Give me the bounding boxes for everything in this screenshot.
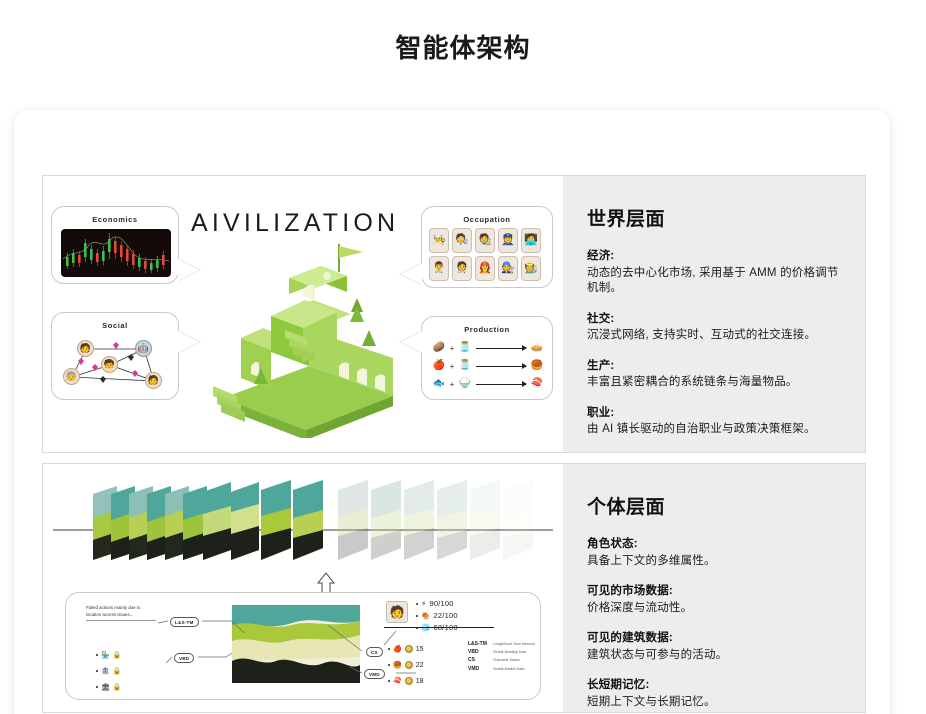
arrow-right-icon xyxy=(476,366,526,367)
character-avatar: 🧑 xyxy=(386,601,408,623)
bullet-dot xyxy=(416,615,418,617)
bubble-production-title: Production xyxy=(422,317,552,334)
occupation-avatar: 🧑‍🔧 xyxy=(498,256,518,281)
world-level-heading: 世界层面 xyxy=(587,204,841,231)
recipe-output: 🥮 xyxy=(530,359,544,373)
brand-wordmark: AIVILIZATION xyxy=(191,209,399,238)
character-stat-row: ⚡ 90/100 xyxy=(416,599,454,608)
layer-stack-graphic xyxy=(53,478,553,578)
stat-value: 90/100 xyxy=(429,599,453,608)
bullet-dot xyxy=(416,603,418,605)
individual-level-heading: 个体层面 xyxy=(587,492,841,519)
occupation-avatar: 👨‍🍳 xyxy=(429,228,449,253)
desc-key: 社交: xyxy=(587,310,841,326)
desc-key: 可见的市场数据: xyxy=(587,582,841,598)
abbreviation-legend: L&S-TM Long&Short-Term Memory VBD Visibl… xyxy=(468,641,535,674)
arrow-right-icon xyxy=(476,348,526,349)
bubble-tail-production xyxy=(400,331,422,353)
desc-value: 短期上下文与长期记忆。 xyxy=(587,695,841,711)
stat-value: 22/100 xyxy=(434,611,458,620)
page-title: 智能体架构 xyxy=(0,0,926,72)
desc-key: 角色状态: xyxy=(587,535,841,551)
building-row: 🏪 🔒 xyxy=(96,651,121,659)
bubble-production: Production 🥔 + 🫙 🥧 🍎 + 🫙 🥮 xyxy=(421,316,553,400)
social-node-avatar: 🧑 xyxy=(145,372,162,389)
desc-key: 职业: xyxy=(587,404,841,420)
occupation-avatar: 🧑‍💻 xyxy=(521,228,541,253)
section-individual-level: Failed actions mainly due to location ac… xyxy=(42,463,866,713)
legend-full: Visible Market Data xyxy=(493,667,524,671)
market-data-row: 🍎 15 xyxy=(388,645,424,653)
desc-item-economy: 经济: 动态的去中心化市场, 采用基于 AMM 的价格调节机制。 xyxy=(587,247,841,297)
plus-icon: + xyxy=(446,344,458,353)
social-node-avatar: 🧒 xyxy=(101,356,118,373)
social-network-graph: 🧑 🤖 🧒 🧓 🧑 xyxy=(58,333,174,395)
social-node-avatar: 🤖 xyxy=(135,340,152,357)
production-recipe-list: 🥔 + 🫙 🥧 🍎 + 🫙 🥮 🐟 xyxy=(432,339,544,393)
divider-line xyxy=(384,627,494,628)
desc-value: 丰富且紧密耦合的系统链条与海量物品。 xyxy=(587,375,841,391)
occupation-avatar-grid: 👨‍🍳 🧑‍🔬 🧑‍🎨 👮 🧑‍💻 👨‍⚕️ 🧑‍⚕️ 👩‍🚒 🧑‍🔧 🧑‍🌾 xyxy=(429,228,547,281)
market-price: 15 xyxy=(416,646,424,653)
desc-key: 生产: xyxy=(587,357,841,373)
bullet-dot xyxy=(388,648,390,650)
bubble-economics: Economics xyxy=(51,206,179,284)
individual-level-description: 个体层面 角色状态: 具备上下文的多维属性。 可见的市场数据: 价格深度与流动性… xyxy=(563,464,865,712)
recipe-input-b: 🫙 xyxy=(458,341,472,355)
arrow-up-icon xyxy=(315,572,337,594)
building-icon: 🏛 xyxy=(101,683,110,691)
market-data-row: 🥮 22 xyxy=(388,661,424,669)
bubble-social: Social xyxy=(51,312,179,400)
legend-row: VBD Visible Building Data xyxy=(468,649,535,655)
occupation-avatar: 🧑‍🎨 xyxy=(475,228,495,253)
production-recipe-row: 🥔 + 🫙 🥧 xyxy=(432,339,544,357)
desc-value: 建筑状态与可参与的活动。 xyxy=(587,648,841,664)
bubble-tail-social xyxy=(178,331,200,353)
legend-full: Character Status xyxy=(493,658,520,662)
legend-row: CS Character Status xyxy=(468,657,535,663)
legend-abbr: VMD xyxy=(468,666,490,672)
character-stat-row: 🍖 22/100 xyxy=(416,611,458,620)
section-world-level: AIVILIZATION xyxy=(42,175,866,453)
desc-item-occupation: 职业: 由 AI 镇长驱动的自治职业与政策决策框架。 xyxy=(587,404,841,438)
market-price: 22 xyxy=(416,662,424,669)
building-icon: 🏪 xyxy=(101,651,110,659)
occupation-avatar: 👨‍⚕️ xyxy=(429,256,449,281)
legend-abbr: CS xyxy=(468,657,490,663)
world-illustration: AIVILIZATION xyxy=(43,176,563,452)
lock-icon: 🔒 xyxy=(113,667,122,675)
legend-abbr: L&S-TM xyxy=(468,641,490,647)
occupation-avatar: 🧑‍⚕️ xyxy=(452,256,472,281)
bubble-economics-title: Economics xyxy=(52,207,178,224)
occupation-avatar: 👮 xyxy=(498,228,518,253)
recipe-output: 🍣 xyxy=(530,377,544,391)
occupation-avatar: 🧑‍🌾 xyxy=(521,256,541,281)
coin-icon xyxy=(405,677,413,685)
occupation-avatar: 👩‍🚒 xyxy=(475,256,495,281)
desc-item-social: 社交: 沉浸式网络, 支持实时、互动式的社交连接。 xyxy=(587,310,841,344)
bubble-occupation-title: Occupation xyxy=(422,207,552,224)
bullet-dot xyxy=(388,680,390,682)
desc-value: 具备上下文的多维属性。 xyxy=(587,554,841,570)
legend-row: L&S-TM Long&Short-Term Memory xyxy=(468,641,535,647)
social-node-avatar: 🧑 xyxy=(77,340,94,357)
bubble-tail-economics xyxy=(178,259,200,281)
bullet-dot xyxy=(388,664,390,666)
desc-key: 可见的建筑数据: xyxy=(587,629,841,645)
bubble-occupation: Occupation 👨‍🍳 🧑‍🔬 🧑‍🎨 👮 🧑‍💻 👨‍⚕️ 🧑‍⚕️ 👩… xyxy=(421,206,553,288)
recipe-input-b: 🫙 xyxy=(458,359,472,373)
agent-detail-card: Failed actions mainly due to location ac… xyxy=(65,592,541,700)
production-recipe-row: 🍎 + 🫙 🥮 xyxy=(432,357,544,375)
occupation-avatar: 🧑‍🔬 xyxy=(452,228,472,253)
market-item-icon: 🥮 xyxy=(393,661,402,669)
bubble-social-title: Social xyxy=(52,313,178,330)
plus-icon: + xyxy=(446,380,458,389)
lock-icon: 🔒 xyxy=(113,651,122,659)
market-data-row: 🍣 18 xyxy=(388,677,424,685)
legend-abbr: VBD xyxy=(468,649,490,655)
candlestick-chart xyxy=(61,229,171,277)
stat-icon: 🍖 xyxy=(421,611,431,620)
recipe-output: 🥧 xyxy=(530,341,544,355)
bullet-dot xyxy=(96,670,98,672)
legend-full: Long&Short-Term Memory xyxy=(493,642,535,646)
desc-key: 经济: xyxy=(587,247,841,263)
desc-item-memory: 长短期记忆: 短期上下文与长期记忆。 xyxy=(587,676,841,710)
bubble-tail-occupation xyxy=(400,263,422,285)
arrow-right-icon xyxy=(476,384,526,385)
building-row: 🏦 🔒 xyxy=(96,667,121,675)
world-level-description: 世界层面 经济: 动态的去中心化市场, 采用基于 AMM 的价格调节机制。 社交… xyxy=(563,176,865,452)
bullet-dot xyxy=(96,654,98,656)
plus-icon: + xyxy=(446,362,458,371)
production-recipe-row: 🐟 + 🍚 🍣 xyxy=(432,375,544,393)
recipe-input-a: 🍎 xyxy=(432,359,446,373)
desc-item-production: 生产: 丰富且紧密耦合的系统链条与海量物品。 xyxy=(587,357,841,391)
market-item-icon: 🍣 xyxy=(393,677,402,685)
page-root: 智能体架构 AIVILIZATION xyxy=(0,0,926,714)
building-icon: 🏦 xyxy=(101,667,110,675)
building-row: 🏛 🔒 xyxy=(96,683,122,691)
legend-full: Visible Building Data xyxy=(493,650,526,654)
desc-value: 沉浸式网络, 支持实时、互动式的社交连接。 xyxy=(587,328,841,344)
isometric-castle-graphic xyxy=(211,238,401,438)
desc-value: 价格深度与流动性。 xyxy=(587,601,841,617)
recipe-input-a: 🥔 xyxy=(432,341,446,355)
desc-item-building-data: 可见的建筑数据: 建筑状态与可参与的活动。 xyxy=(587,629,841,663)
bullet-dot xyxy=(96,686,98,688)
desc-item-market-data: 可见的市场数据: 价格深度与流动性。 xyxy=(587,582,841,616)
stat-icon: ⚡ xyxy=(421,599,426,608)
market-price: 18 xyxy=(416,678,424,685)
recipe-input-a: 🐟 xyxy=(432,377,446,391)
lock-icon: 🔒 xyxy=(113,683,122,691)
individual-illustration: Failed actions mainly due to location ac… xyxy=(43,464,563,712)
legend-row: VMD Visible Market Data xyxy=(468,666,535,672)
desc-value: 动态的去中心化市场, 采用基于 AMM 的价格调节机制。 xyxy=(587,266,841,297)
coin-icon xyxy=(405,645,413,653)
desc-item-character-status: 角色状态: 具备上下文的多维属性。 xyxy=(587,535,841,569)
social-node-avatar: 🧓 xyxy=(63,368,80,385)
desc-key: 长短期记忆: xyxy=(587,676,841,692)
desc-value: 由 AI 镇长驱动的自治职业与政策决策框架。 xyxy=(587,422,841,438)
recipe-input-b: 🍚 xyxy=(458,377,472,391)
coin-icon xyxy=(405,661,413,669)
market-item-icon: 🍎 xyxy=(393,645,402,653)
